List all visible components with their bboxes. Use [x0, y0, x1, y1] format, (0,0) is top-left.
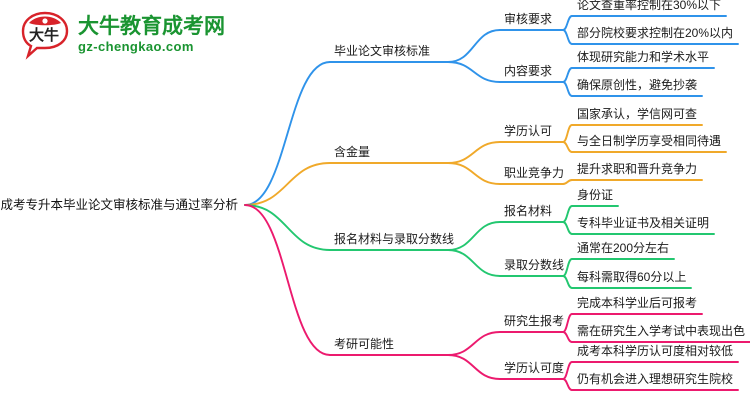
level2-node-label-4-1[interactable]: 研究生报考 — [504, 315, 564, 327]
subbranch-connector-2-2 — [448, 163, 500, 184]
subbranch-connector-1-1 — [448, 30, 500, 62]
leaf-node-label-1-1-1[interactable]: 论文查重率控制在30%以下 — [577, 0, 721, 11]
level2-node-label-3-1[interactable]: 报名材料 — [504, 205, 552, 217]
subbranch-connector-3-1 — [448, 222, 500, 250]
leaf-node-label-2-1-2[interactable]: 与全日制学历享受相同待遇 — [577, 135, 721, 147]
level2-node-label-2-2[interactable]: 职业竞争力 — [504, 167, 564, 179]
leaf-node-label-4-2-1[interactable]: 成考本科学历认可度相对较低 — [577, 345, 733, 357]
subbranch-connector-4-1 — [448, 332, 500, 355]
leaf-node-label-1-2-1[interactable]: 体现研究能力和学术水平 — [577, 51, 709, 63]
leaf-connector-4-1-1 — [563, 314, 572, 332]
level2-node-label-2-1[interactable]: 学历认可 — [504, 125, 552, 137]
leaf-node-label-2-2-1[interactable]: 提升求职和晋升竞争力 — [577, 163, 697, 175]
leaf-node-label-4-1-1[interactable]: 完成本科学业后可报考 — [577, 297, 697, 309]
branch-connector-3 — [245, 205, 330, 250]
subbranch-connector-1-2 — [448, 62, 500, 82]
level1-node-label-1[interactable]: 毕业论文审核标准 — [334, 45, 430, 57]
leaf-connector-4-2-2 — [563, 379, 572, 390]
leaf-node-label-3-1-2[interactable]: 专科毕业证书及相关证明 — [577, 217, 709, 229]
branch-connector-2 — [245, 163, 330, 205]
leaf-connector-1-2-1 — [563, 68, 572, 82]
leaf-connector-4-1-2 — [563, 332, 572, 342]
leaf-node-label-3-2-1[interactable]: 通常在200分左右 — [577, 242, 669, 254]
level1-node-label-2[interactable]: 含金量 — [334, 146, 370, 158]
leaf-connector-1-1-1 — [563, 16, 572, 30]
level2-node-label-3-2[interactable]: 录取分数线 — [504, 259, 564, 271]
leaf-node-label-1-2-2[interactable]: 确保原创性，避免抄袭 — [577, 79, 697, 91]
level1-node-label-4[interactable]: 考研可能性 — [334, 338, 394, 350]
leaf-connector-3-1-2 — [563, 222, 572, 234]
leaf-connector-3-1-1 — [563, 206, 572, 222]
leaf-connector-2-1-2 — [563, 142, 572, 152]
root-node-label[interactable]: 深圳成考专升本毕业论文审核标准与通过率分析 — [0, 199, 238, 212]
leaf-node-label-3-1-1[interactable]: 身份证 — [577, 189, 613, 201]
leaf-node-label-2-1-1[interactable]: 国家承认，学信网可查 — [577, 108, 697, 120]
leaf-node-label-4-1-2[interactable]: 需在研究生入学考试中表现出色 — [577, 325, 745, 337]
subbranch-connector-2-1 — [448, 142, 500, 163]
level2-node-label-1-2[interactable]: 内容要求 — [504, 65, 552, 77]
leaf-connector-2-2-1 — [563, 180, 572, 184]
level2-node-label-1-1[interactable]: 审核要求 — [504, 13, 552, 25]
subbranch-connector-4-2 — [448, 355, 500, 379]
leaf-connector-3-2-1 — [563, 259, 572, 276]
leaf-node-label-4-2-2[interactable]: 仍有机会进入理想研究生院校 — [577, 373, 733, 385]
mindmap-canvas: 深圳成考专升本毕业论文审核标准与通过率分析毕业论文审核标准审核要求论文查重率控制… — [0, 0, 750, 410]
leaf-connector-2-1-1 — [563, 125, 572, 142]
leaf-connector-3-2-2 — [563, 276, 572, 288]
level1-node-label-3[interactable]: 报名材料与录取分数线 — [334, 233, 454, 245]
leaf-connector-1-2-2 — [563, 82, 572, 96]
leaf-node-label-1-1-2[interactable]: 部分院校要求控制在20%以内 — [577, 27, 733, 39]
leaf-connector-1-1-2 — [563, 30, 572, 44]
subbranch-connector-3-2 — [448, 250, 500, 276]
leaf-connector-4-2-1 — [563, 362, 572, 379]
level2-node-label-4-2[interactable]: 学历认可度 — [504, 362, 564, 374]
leaf-node-label-3-2-2[interactable]: 每科需取得60分以上 — [577, 271, 686, 283]
